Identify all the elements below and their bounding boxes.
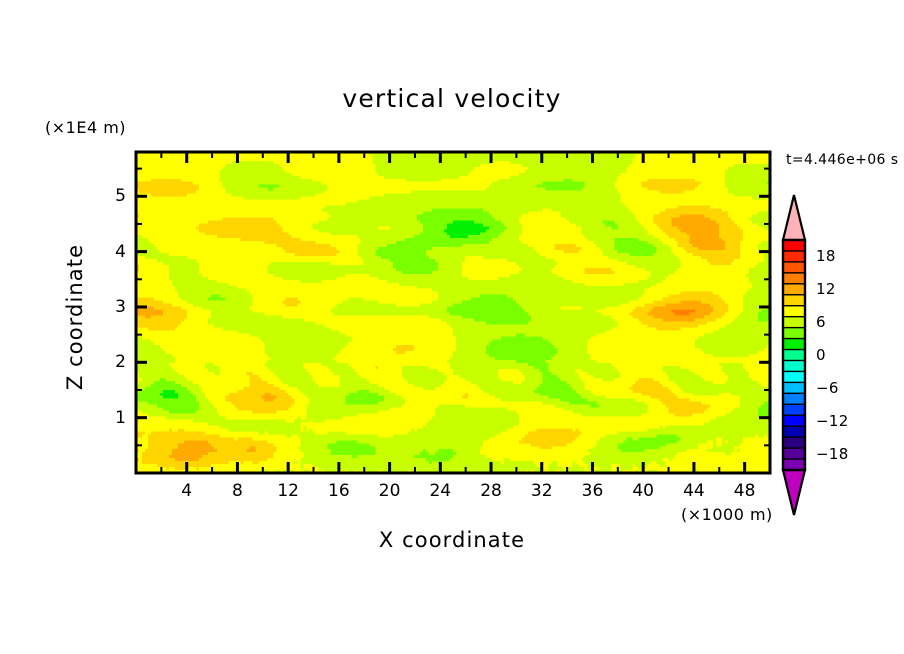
y-tick-label: 2 [96, 352, 126, 372]
y-tick-label: 3 [96, 297, 126, 317]
colorbar-tick-label: 18 [816, 247, 836, 265]
colorbar-tick-label: −12 [816, 412, 849, 430]
colorbar-tick-label: −6 [816, 379, 839, 397]
x-tick-label: 4 [181, 481, 192, 501]
x-tick-label: 48 [734, 481, 756, 501]
x-tick-label: 24 [429, 481, 451, 501]
x-tick-label: 16 [328, 481, 350, 501]
chart-title: vertical velocity [0, 84, 904, 113]
colorbar-tick-label: −18 [816, 445, 849, 463]
contour-plot [134, 150, 772, 475]
time-annotation: t=4.446e+06 s [786, 152, 898, 168]
x-tick-label: 36 [582, 481, 604, 501]
colorbar [779, 191, 809, 519]
figure-canvas: vertical velocity (×1E4 m) t=4.446e+06 s… [0, 0, 904, 654]
x-tick-label: 28 [480, 481, 502, 501]
x-tick-label: 12 [277, 481, 299, 501]
y-tick-label: 1 [96, 408, 126, 428]
colorbar-tick-label: 12 [816, 280, 836, 298]
y-axis-title: Z coordinate [63, 217, 87, 417]
x-axis-unit-label: (×1000 m) [681, 505, 773, 524]
colorbar-tick-label: 0 [816, 346, 826, 364]
x-tick-label: 44 [683, 481, 705, 501]
y-axis-unit-label: (×1E4 m) [45, 118, 126, 137]
y-tick-label: 5 [96, 186, 126, 206]
x-tick-label: 32 [531, 481, 553, 501]
x-tick-label: 8 [232, 481, 243, 501]
x-tick-label: 20 [379, 481, 401, 501]
x-axis-title: X coordinate [0, 528, 904, 552]
colorbar-tick-label: 6 [816, 313, 826, 331]
y-tick-label: 4 [96, 242, 126, 262]
x-tick-label: 40 [632, 481, 654, 501]
